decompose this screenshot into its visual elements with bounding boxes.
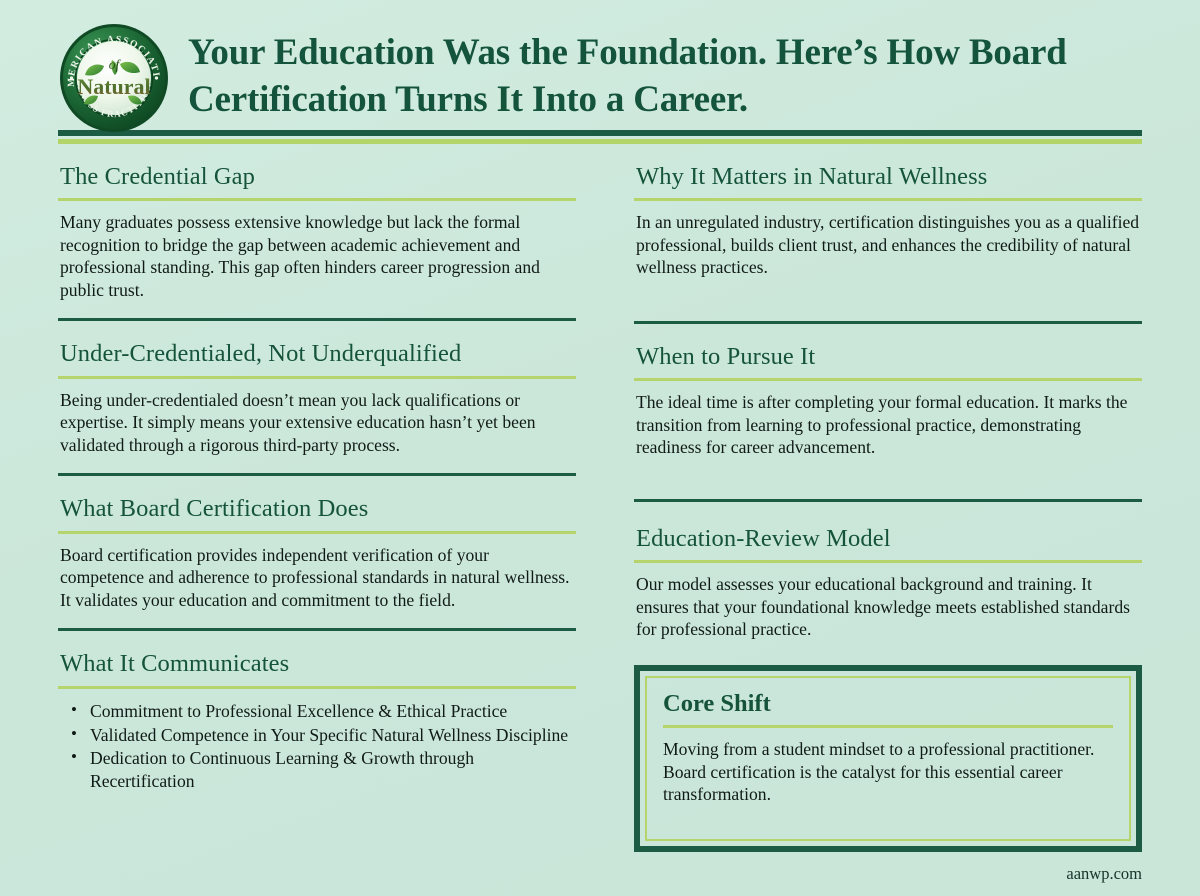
section-title: The Credential Gap (60, 162, 576, 191)
section-title: Why It Matters in Natural Wellness (636, 162, 1142, 191)
section-underline (58, 686, 576, 689)
header-rule-dark (58, 130, 1142, 136)
section-underline (58, 198, 576, 201)
section-divider (58, 473, 576, 476)
content-columns: The Credential Gap Many graduates posses… (0, 162, 1200, 862)
infographic-page: AMERICAN ASSOCIATION WELLNESS PRACTITION… (0, 0, 1200, 896)
section-divider (634, 499, 1142, 502)
section-title: Under-Credentialed, Not Underqualified (60, 339, 576, 368)
section-credential-gap: The Credential Gap Many graduates posses… (58, 162, 576, 321)
core-shift-box: Core Shift Moving from a student mindset… (634, 665, 1142, 853)
section-underline (58, 376, 576, 379)
section-divider (634, 321, 1142, 324)
section-what-it-communicates: What It Communicates Commitment to Profe… (58, 649, 576, 793)
left-column: The Credential Gap Many graduates posses… (58, 162, 582, 862)
section-title: What Board Certification Does (60, 494, 576, 523)
list-item: Validated Competence in Your Specific Na… (88, 724, 576, 747)
right-column: Why It Matters in Natural Wellness In an… (634, 162, 1142, 862)
section-underline (58, 531, 576, 534)
section-under-credentialed: Under-Credentialed, Not Underqualified B… (58, 339, 576, 476)
section-title: What It Communicates (60, 649, 576, 678)
section-title: When to Pursue It (636, 342, 1142, 371)
section-body: Board certification provides independent… (60, 544, 576, 612)
footer-website: aanwp.com (1066, 864, 1142, 884)
section-divider (58, 318, 576, 321)
header-text: Your Education Was the Foundation. Here’… (178, 16, 1142, 124)
section-underline (634, 560, 1142, 563)
section-underline (634, 378, 1142, 381)
section-title: Education-Review Model (636, 524, 1142, 553)
svg-text:Natural: Natural (77, 74, 150, 99)
section-body: Being under-credentialed doesn’t mean yo… (60, 389, 576, 457)
logo-container: AMERICAN ASSOCIATION WELLNESS PRACTITION… (58, 16, 178, 134)
section-underline (634, 198, 1142, 201)
section-body: Our model assesses your educational back… (636, 573, 1142, 641)
list-item: Dedication to Continuous Learning & Grow… (88, 747, 576, 793)
column-gap (582, 162, 634, 862)
section-why-it-matters: Why It Matters in Natural Wellness In an… (634, 162, 1142, 324)
core-shift-title: Core Shift (663, 689, 1113, 718)
section-when-to-pursue-it: When to Pursue It The ideal time is afte… (634, 342, 1142, 502)
page-title: Your Education Was the Foundation. Here’… (188, 30, 1142, 124)
section-divider (58, 628, 576, 631)
section-education-review-model: Education-Review Model Our model assesse… (634, 524, 1142, 641)
communicates-list: Commitment to Professional Excellence & … (58, 700, 576, 793)
section-body: The ideal time is after completing your … (636, 391, 1142, 459)
aanwp-seal-logo-icon: AMERICAN ASSOCIATION WELLNESS PRACTITION… (58, 22, 170, 134)
section-body: Many graduates possess extensive knowled… (60, 211, 576, 301)
header-rule-light (58, 139, 1142, 144)
section-what-board-certification-does: What Board Certification Does Board cert… (58, 494, 576, 631)
section-body: In an unregulated industry, certificatio… (636, 211, 1142, 279)
list-item: Commitment to Professional Excellence & … (88, 700, 576, 723)
header: AMERICAN ASSOCIATION WELLNESS PRACTITION… (0, 0, 1200, 128)
core-shift-underline (663, 725, 1113, 728)
core-shift-body: Moving from a student mindset to a profe… (663, 738, 1113, 806)
core-shift-inner: Core Shift Moving from a student mindset… (645, 676, 1131, 842)
